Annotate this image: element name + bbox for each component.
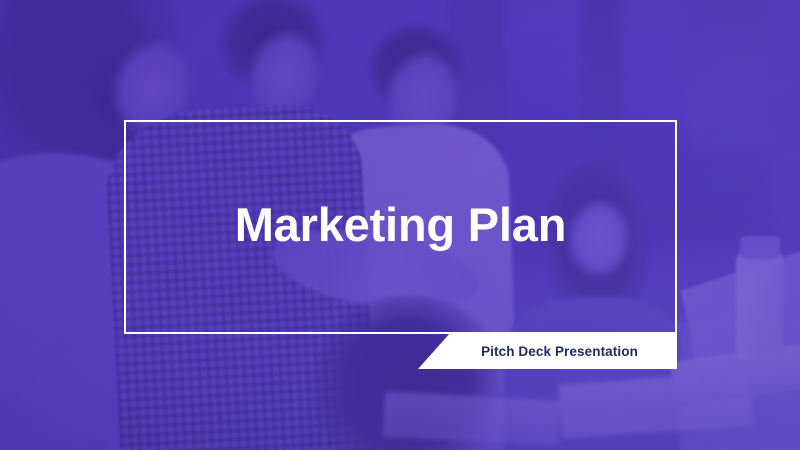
subtitle-label: Pitch Deck Presentation (418, 333, 677, 369)
presentation-title-slide: Marketing Plan Pitch Deck Presentation (0, 0, 800, 450)
page-title: Marketing Plan (124, 120, 677, 334)
